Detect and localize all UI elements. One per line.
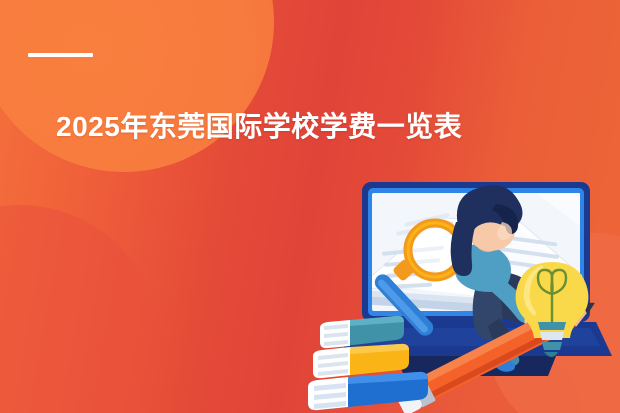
accent-rule <box>28 53 93 57</box>
student-research-illustration <box>300 170 620 413</box>
banner-headline: 2025年东莞国际学校学费一览表 <box>56 108 576 146</box>
background-circle-bottom-left <box>0 205 160 413</box>
promo-banner: 2025年东莞国际学校学费一览表 <box>0 0 620 413</box>
background-circle-orange-top-left <box>0 0 274 172</box>
